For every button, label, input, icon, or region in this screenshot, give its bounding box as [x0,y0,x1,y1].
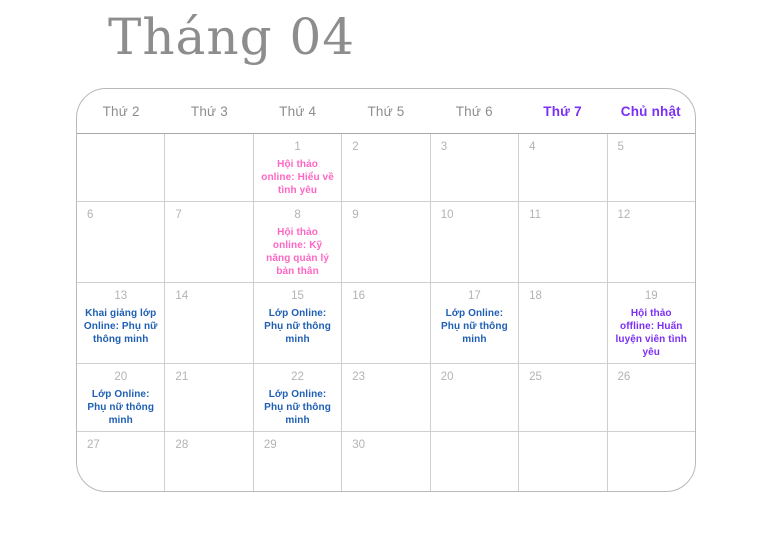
day-number: 28 [175,438,188,452]
day-cell-empty[interactable] [519,432,607,491]
weekday-header-1: Thứ 2 [77,89,165,133]
calendar-page: Tháng 04 Thứ 2Thứ 3Thứ 4Thứ 5Thứ 6Thứ 7C… [0,0,768,543]
day-cell-18[interactable]: 18 [519,283,607,363]
day-cell-25[interactable]: 25 [519,364,607,431]
weekday-header-3: Thứ 4 [254,89,342,133]
day-number: 18 [529,289,542,303]
event-label[interactable]: Lớp Online: Phụ nữ thông minh [81,388,160,427]
weekday-header-7: Chủ nhật [607,89,695,133]
weeks-container: 1Hội thảo online: Hiểu về tình yêu234567… [77,134,695,491]
day-cell-28[interactable]: 28 [165,432,253,491]
event-label[interactable]: Khai giảng lớp Online: Phụ nữ thông minh [81,307,160,346]
week-row: 678Hội thảo online: Kỹ năng quản lý bản … [77,202,695,283]
day-cell-2[interactable]: 2 [342,134,430,201]
day-number: 29 [264,438,277,452]
day-number: 12 [618,208,631,222]
day-cell-9[interactable]: 9 [342,202,430,282]
day-number: 17 [468,289,481,303]
day-number: 7 [175,208,181,222]
day-cell-3[interactable]: 3 [431,134,519,201]
day-cell-21[interactable]: 21 [165,364,253,431]
day-cell-7[interactable]: 7 [165,202,253,282]
day-cell-13[interactable]: 13Khai giảng lớp Online: Phụ nữ thông mi… [77,283,165,363]
day-number: 13 [114,289,127,303]
day-number: 2 [352,140,358,154]
day-cell-empty[interactable] [165,134,253,201]
day-cell-30[interactable]: 30 [342,432,430,491]
weekday-header-2: Thứ 3 [165,89,253,133]
calendar-table: Thứ 2Thứ 3Thứ 4Thứ 5Thứ 6Thứ 7Chủ nhật 1… [76,88,696,492]
day-cell-23[interactable]: 23 [342,364,430,431]
day-number: 26 [618,370,631,384]
week-row: 20Lớp Online: Phụ nữ thông minh2122Lớp O… [77,364,695,432]
day-number: 16 [352,289,365,303]
day-number: 27 [87,438,100,452]
day-cell-17[interactable]: 17Lớp Online: Phụ nữ thông minh [431,283,519,363]
event-label[interactable]: Lớp Online: Phụ nữ thông minh [435,307,514,346]
event-label[interactable]: Lớp Online: Phụ nữ thông minh [258,307,337,346]
day-cell-27[interactable]: 27 [77,432,165,491]
day-cell-empty[interactable] [77,134,165,201]
weekday-header-row: Thứ 2Thứ 3Thứ 4Thứ 5Thứ 6Thứ 7Chủ nhật [77,89,695,134]
week-row: 13Khai giảng lớp Online: Phụ nữ thông mi… [77,283,695,364]
day-number: 11 [529,208,541,222]
day-number: 14 [175,289,188,303]
day-cell-26[interactable]: 26 [608,364,695,431]
day-number: 23 [352,370,365,384]
event-label[interactable]: Hội thảo online: Kỹ năng quản lý bản thâ… [258,226,337,278]
day-cell-10[interactable]: 10 [431,202,519,282]
day-cell-11[interactable]: 11 [519,202,607,282]
day-number: 15 [291,289,304,303]
day-number: 4 [529,140,535,154]
event-label[interactable]: Lớp Online: Phụ nữ thông minh [258,388,337,427]
day-number: 5 [618,140,624,154]
day-number: 1 [294,140,300,154]
weekday-header-6: Thứ 7 [518,89,606,133]
event-label[interactable]: Hội thảo offline: Huấn luyện viên tình y… [612,307,691,359]
day-cell-empty[interactable] [431,432,519,491]
day-cell-22[interactable]: 22Lớp Online: Phụ nữ thông minh [254,364,342,431]
day-number: 3 [441,140,447,154]
day-cell-20[interactable]: 20Lớp Online: Phụ nữ thông minh [77,364,165,431]
weekday-header-4: Thứ 5 [342,89,430,133]
day-cell-1[interactable]: 1Hội thảo online: Hiểu về tình yêu [254,134,342,201]
page-title: Tháng 04 [108,6,355,68]
day-number: 20 [441,370,454,384]
day-cell-8[interactable]: 8Hội thảo online: Kỹ năng quản lý bản th… [254,202,342,282]
day-cell-16[interactable]: 16 [342,283,430,363]
day-cell-5[interactable]: 5 [608,134,695,201]
day-cell-29[interactable]: 29 [254,432,342,491]
day-number: 20 [114,370,127,384]
day-number: 10 [441,208,454,222]
week-row: 27282930 [77,432,695,491]
week-row: 1Hội thảo online: Hiểu về tình yêu2345 [77,134,695,202]
weekday-header-5: Thứ 6 [430,89,518,133]
day-number: 6 [87,208,93,222]
day-number: 30 [352,438,365,452]
day-cell-empty[interactable] [608,432,695,491]
day-cell-4[interactable]: 4 [519,134,607,201]
day-number: 9 [352,208,358,222]
day-cell-6[interactable]: 6 [77,202,165,282]
day-number: 19 [645,289,658,303]
day-number: 22 [291,370,304,384]
day-number: 25 [529,370,542,384]
day-cell-12[interactable]: 12 [608,202,695,282]
event-label[interactable]: Hội thảo online: Hiểu về tình yêu [258,158,337,197]
day-number: 21 [175,370,188,384]
day-number: 8 [294,208,300,222]
day-cell-15[interactable]: 15Lớp Online: Phụ nữ thông minh [254,283,342,363]
day-cell-20[interactable]: 20 [431,364,519,431]
day-cell-14[interactable]: 14 [165,283,253,363]
day-cell-19[interactable]: 19Hội thảo offline: Huấn luyện viên tình… [608,283,695,363]
